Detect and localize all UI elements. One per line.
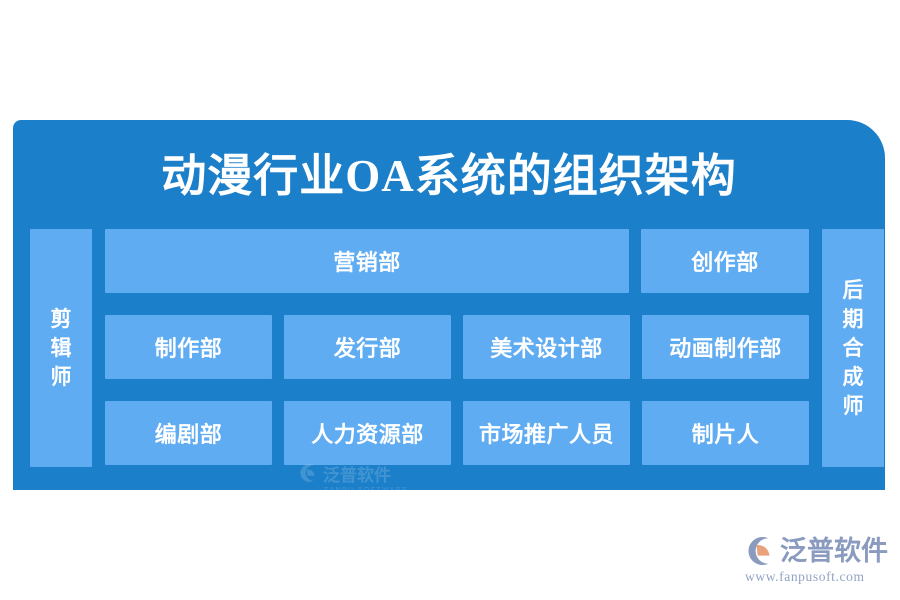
org-node-producer-label: 制片人 [692, 417, 760, 449]
org-node-screenwriting[interactable]: 编剧部 [105, 401, 272, 465]
org-node-production-label: 制作部 [155, 331, 223, 363]
org-node-art-design[interactable]: 美术设计部 [463, 315, 630, 379]
org-node-left-editor[interactable]: 剪辑师 [30, 229, 92, 467]
org-node-right-compositor-label: 后期合成师 [841, 276, 865, 421]
org-node-screenwriting-label: 编剧部 [155, 417, 223, 449]
org-node-marketing-label: 营销部 [333, 245, 401, 277]
org-node-marketing[interactable]: 营销部 [105, 229, 629, 293]
org-node-art-design-label: 美术设计部 [490, 331, 603, 363]
org-node-market-promotion[interactable]: 市场推广人员 [463, 401, 630, 465]
org-chart-panel: 动漫行业OA系统的组织架构 剪辑师 营销部 创作部 制作部 [13, 120, 885, 490]
org-node-creation-label: 创作部 [691, 245, 759, 277]
page-title: 动漫行业OA系统的组织架构 [13, 150, 885, 202]
org-node-animation-production-label: 动画制作部 [669, 331, 782, 363]
org-node-creation[interactable]: 创作部 [641, 229, 809, 293]
org-chart-row-1: 营销部 创作部 [105, 229, 809, 293]
org-chart-row-3: 编剧部 人力资源部 市场推广人员 制片人 [105, 401, 809, 465]
org-node-left-editor-label: 剪辑师 [49, 305, 73, 392]
org-node-distribution-label: 发行部 [334, 331, 402, 363]
brand-logo: 泛普软件 www.fanpusoft.com [742, 530, 884, 588]
org-node-human-resources-label: 人力资源部 [311, 417, 424, 449]
org-chart-rows: 营销部 创作部 制作部 发行部 美术设计部 [105, 229, 809, 467]
org-node-human-resources[interactable]: 人力资源部 [284, 401, 451, 465]
brand-url: www.fanpusoft.com [745, 569, 865, 585]
org-node-production[interactable]: 制作部 [105, 315, 272, 379]
chart-watermark-subtitle: FANPU SOFTWARE [324, 487, 419, 494]
brand-name: 泛普软件 [780, 535, 888, 567]
screenshot-canvas: 动漫行业OA系统的组织架构 剪辑师 营销部 创作部 制作部 [0, 0, 900, 600]
org-node-right-compositor[interactable]: 后期合成师 [822, 229, 884, 467]
fanpu-brand-icon [742, 534, 776, 568]
org-node-animation-production[interactable]: 动画制作部 [642, 315, 809, 379]
org-chart-row-2: 制作部 发行部 美术设计部 动画制作部 [105, 315, 809, 379]
org-node-distribution[interactable]: 发行部 [284, 315, 451, 379]
org-node-market-promotion-label: 市场推广人员 [479, 417, 614, 449]
org-chart-body: 剪辑师 营销部 创作部 制作部 发行部 [30, 229, 868, 467]
org-node-producer[interactable]: 制片人 [642, 401, 809, 465]
